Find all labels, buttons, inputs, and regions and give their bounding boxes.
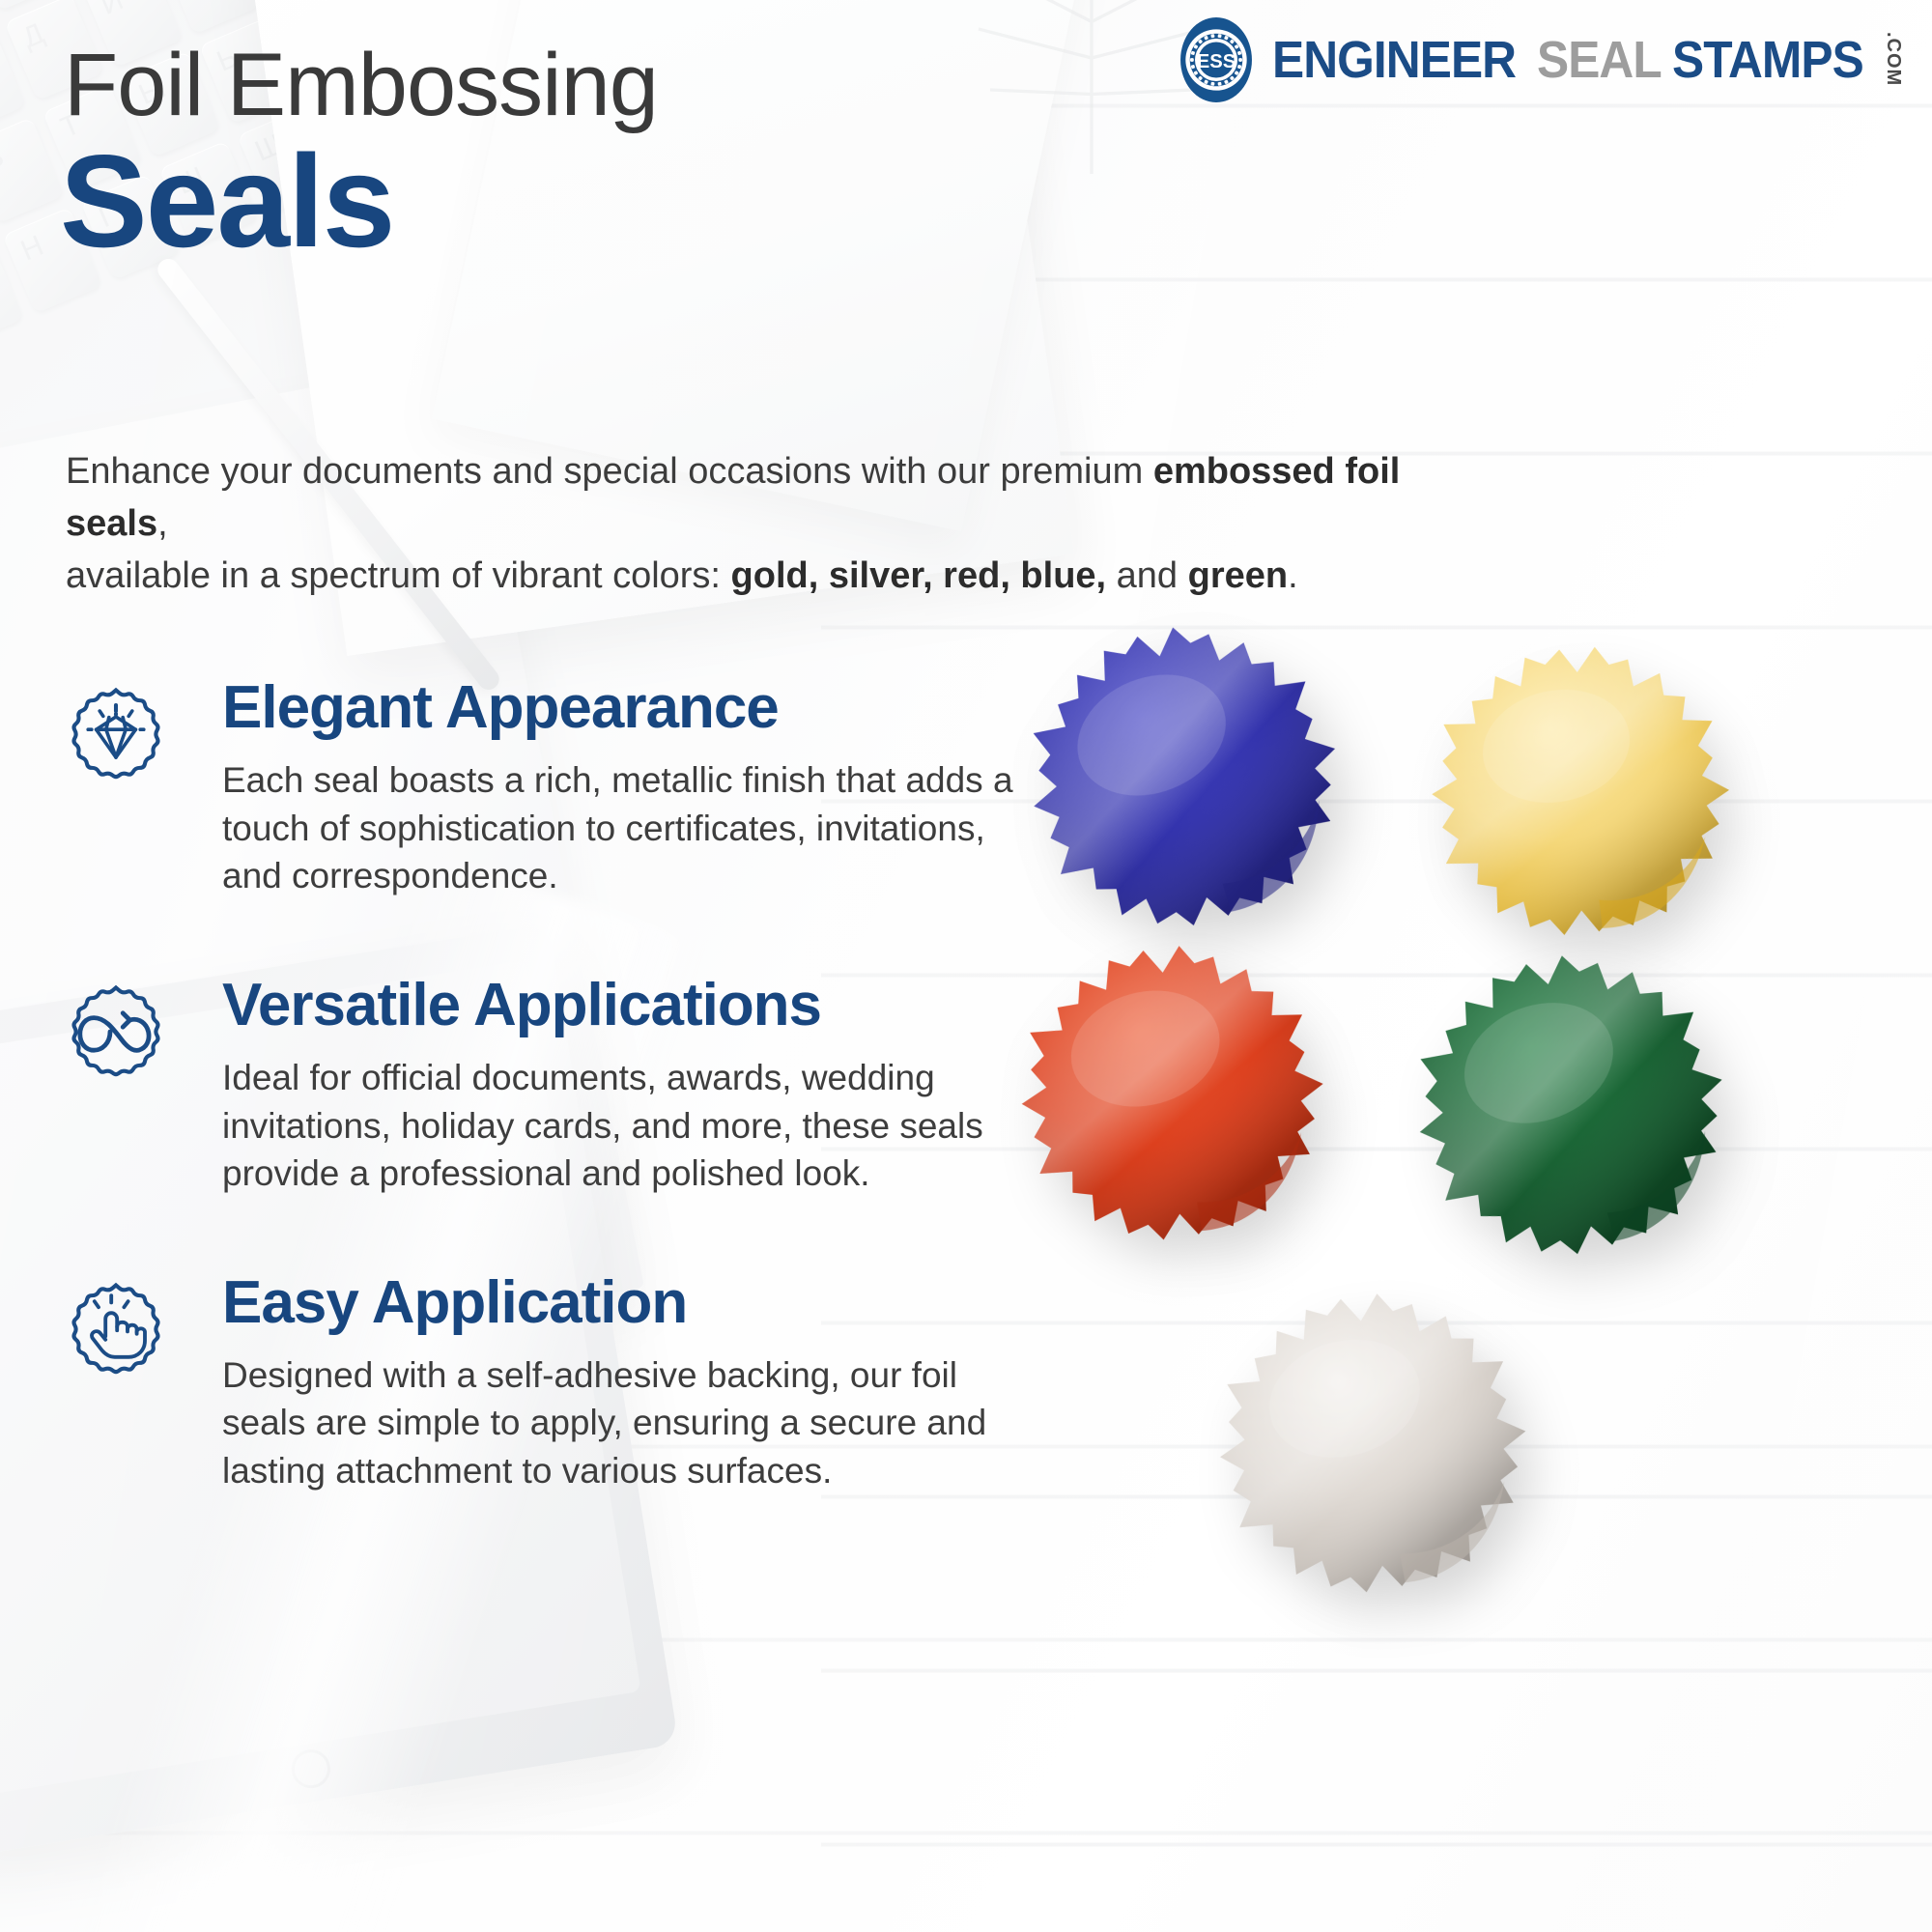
infographic-canvas: КЛПУВТЫЬМБЮЯЖЭЧСАНГШЩЗХЪФЙЦЕРОДИ567890КЛ… [0,0,1932,1932]
feature-item: Elegant Appearance Each seal boasts a ri… [58,676,1034,900]
feature-text: Ideal for official documents, awards, we… [222,1054,1034,1198]
silver-foil-seal [1207,1279,1536,1608]
intro-text-1: Enhance your documents and special occas… [66,451,1153,492]
diamond-gem-icon [58,676,174,792]
wordmark-tld: .COM [1884,32,1903,86]
intro-text-3: available in a spectrum of vibrant color… [66,555,731,596]
feature-title: Easy Application [222,1271,1034,1334]
ess-monogram: ESS [1197,51,1236,72]
feature-list: Elegant Appearance Each seal boasts a ri… [58,676,1034,1568]
feature-body: Easy Application Designed with a self-ad… [222,1271,1034,1495]
wordmark-engineer: ENGINEER [1272,30,1516,90]
feature-title: Versatile Applications [222,974,1034,1037]
page-eyebrow: Foil Embossing [64,41,658,129]
blue-foil-seal [1013,608,1353,948]
feature-text: Each seal boasts a rich, metallic finish… [222,756,1034,900]
green-foil-seal [1403,939,1738,1274]
feature-text: Designed with a self-adhesive backing, o… [222,1351,1034,1495]
gold-foil-seal [1409,622,1749,962]
brand-wordmark: ENGINEER SEAL STAMPS .COM [1272,30,1903,90]
infinity-loop-icon [58,974,174,1090]
brand-logo[interactable]: ESS ENGINEER SEAL STAMPS .COM [1174,17,1903,102]
feature-body: Versatile Applications Ideal for officia… [222,974,1034,1198]
intro-text-2: , [157,503,168,544]
red-foil-seal [1007,929,1337,1260]
content-layer: ESS ENGINEER SEAL STAMPS .COM Foil Embos… [0,0,1932,1932]
feature-body: Elegant Appearance Each seal boasts a ri… [222,676,1034,900]
tapping-hand-icon [58,1271,174,1387]
feature-title: Elegant Appearance [222,676,1034,739]
page-title: Seals [60,135,393,267]
wordmark-seal: SEAL [1537,30,1662,90]
intro-paragraph: Enhance your documents and special occas… [66,446,1495,603]
wordmark-stamps: STAMPS [1672,30,1863,90]
intro-bold-green: green [1188,555,1288,596]
feature-item: Versatile Applications Ideal for officia… [58,974,1034,1198]
intro-text-5: . [1288,555,1298,596]
ess-gear-badge-icon: ESS [1174,17,1259,102]
feature-item: Easy Application Designed with a self-ad… [58,1271,1034,1495]
intro-bold-colors: gold, silver, red, blue, [731,555,1107,596]
foil-seal-gallery [1024,618,1932,1777]
intro-text-4: and [1106,555,1188,596]
